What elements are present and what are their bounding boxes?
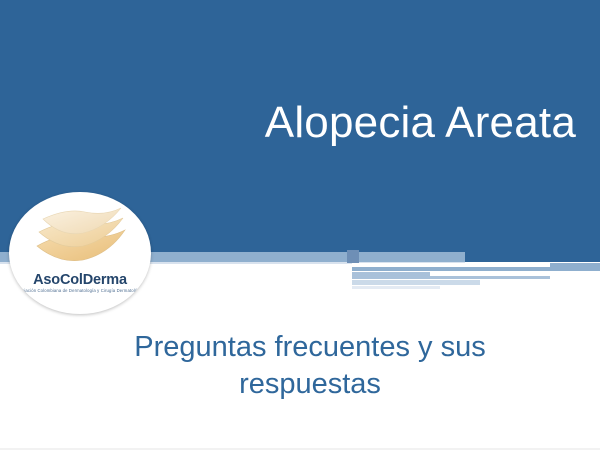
presentation-slide: Alopecia Areata bbox=[0, 0, 600, 450]
decoration-tab bbox=[347, 250, 359, 263]
decoration-bar-faint-blue bbox=[352, 286, 440, 289]
slide-title: Alopecia Areata bbox=[0, 96, 576, 150]
logo-name: AsoColDerma bbox=[9, 272, 151, 288]
decoration-bar-medium-blue-notch bbox=[352, 263, 550, 267]
asocolderma-logo: AsoColDerma Asociación Colombiana de Der… bbox=[9, 192, 151, 314]
slide-subtitle: Preguntas frecuentes y sus respuestas bbox=[92, 329, 528, 403]
decoration-bar-light-blue-notch bbox=[430, 272, 600, 276]
stacked-skin-layers-icon bbox=[25, 202, 135, 264]
decoration-bar-pale-blue bbox=[352, 280, 480, 285]
logo-tagline: Asociación Colombiana de Dermatología y … bbox=[9, 288, 151, 293]
